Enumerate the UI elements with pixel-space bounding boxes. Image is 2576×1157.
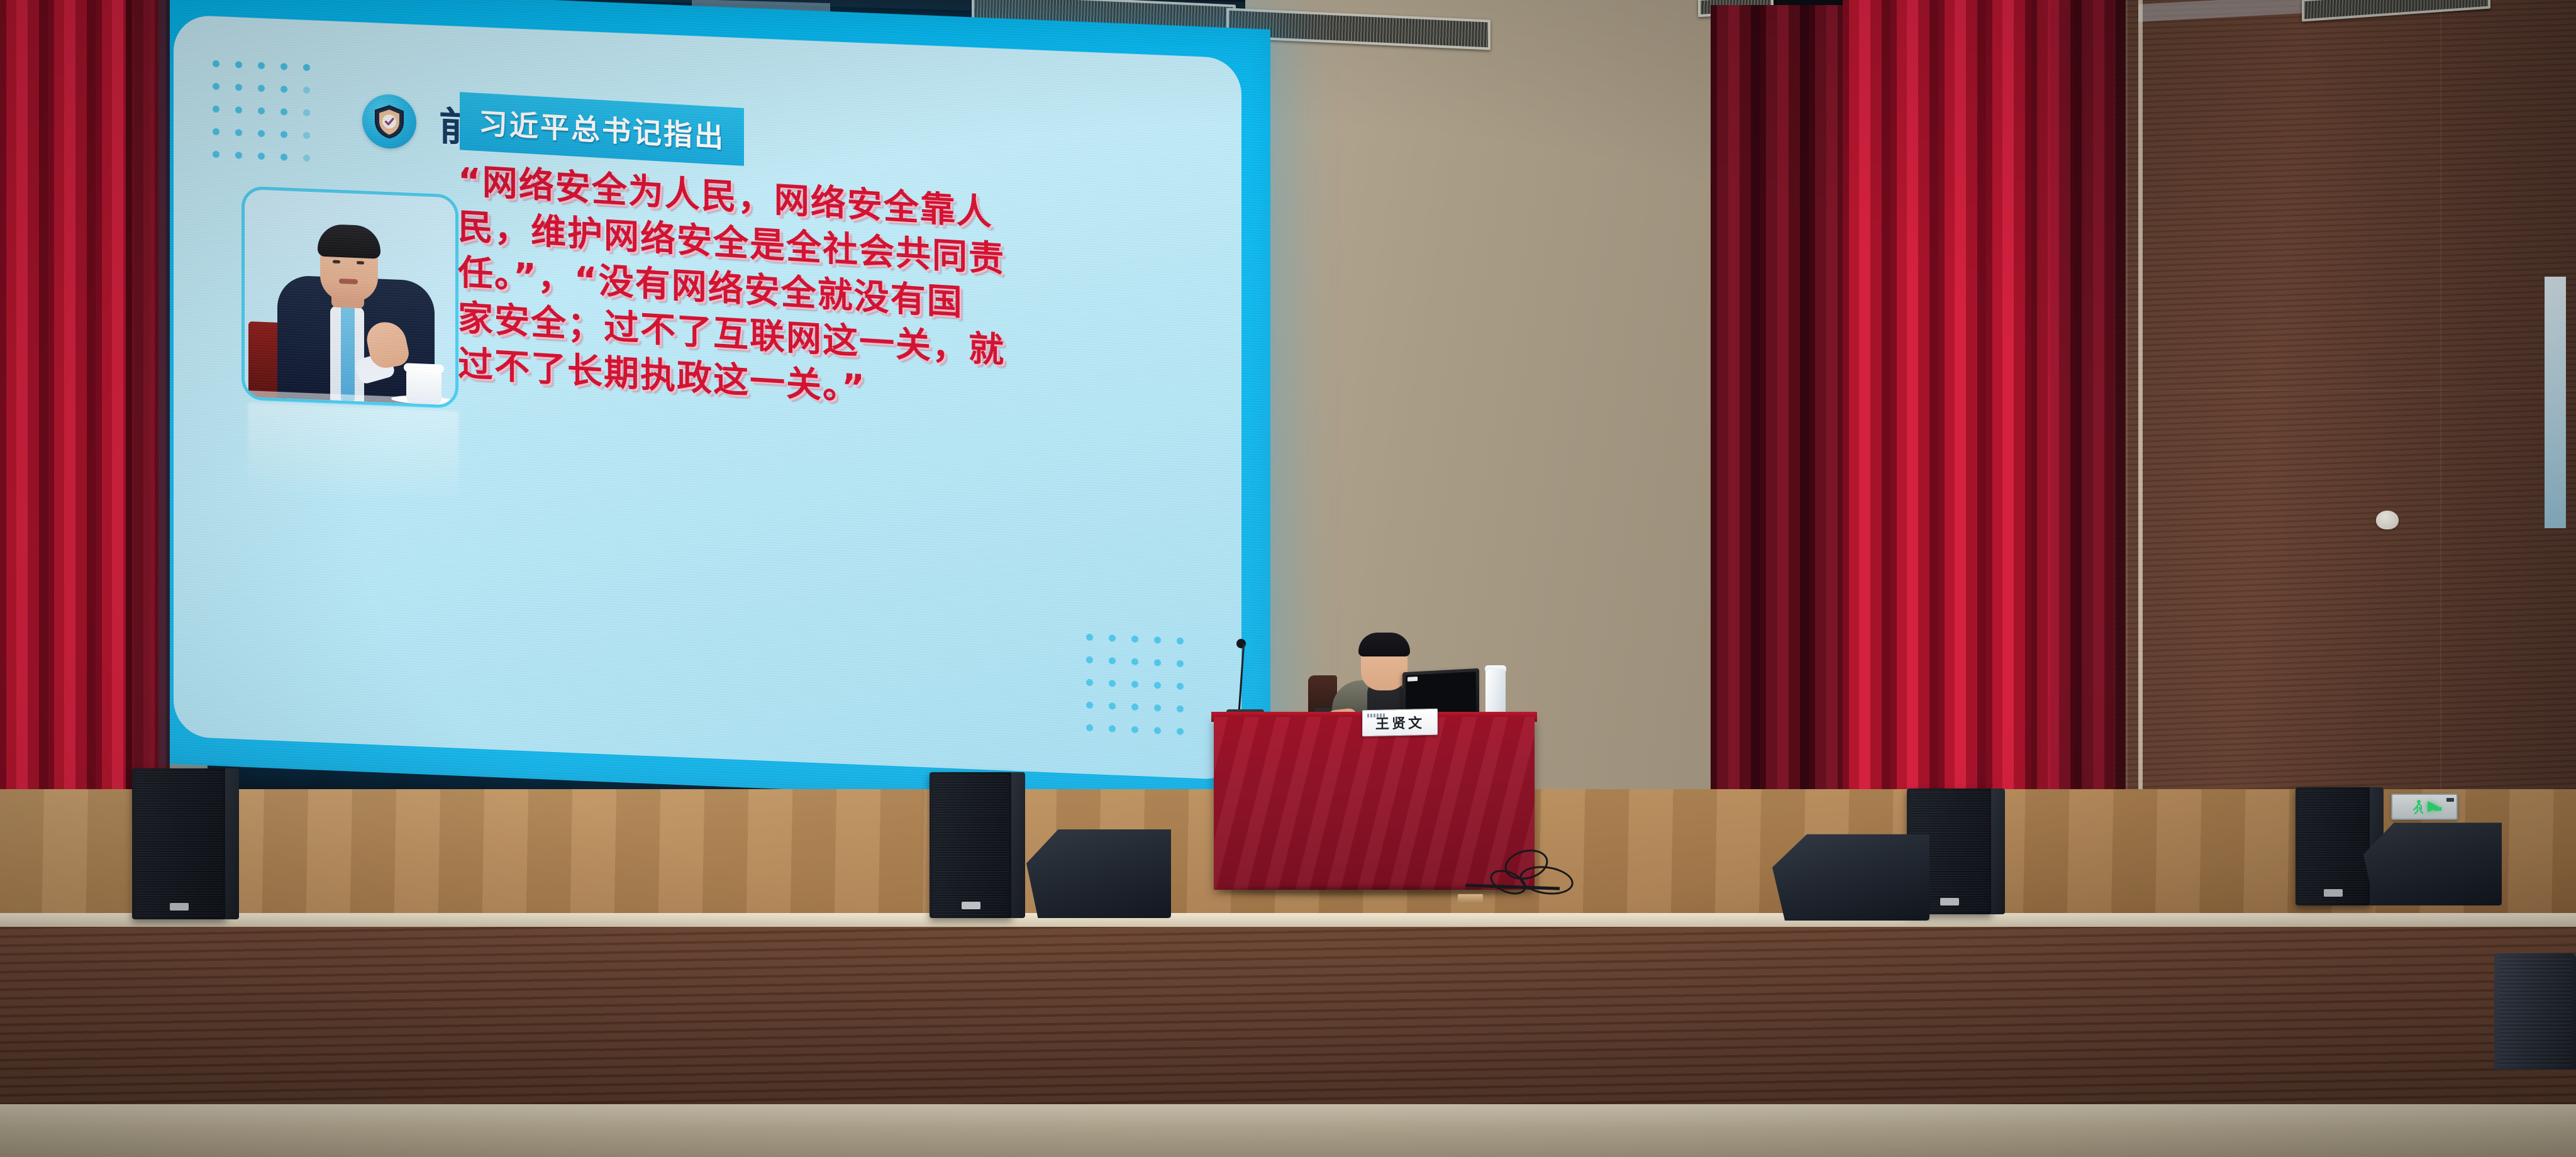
quote-banner: 习近平总书记指出 <box>460 92 744 166</box>
portrait-reflection <box>248 402 458 506</box>
pa-speaker-right <box>2296 787 2371 905</box>
wood-block-wedge <box>1458 894 1483 903</box>
laptop-badge <box>1407 677 1418 682</box>
wall-seam-horizontal <box>2138 390 2576 391</box>
stage-curtain-left-dark-edge <box>126 0 170 817</box>
quote-body: “网络安全为人民，网络安全靠人 民，维护网络安全是全社会共同责 任。”，“没有网… <box>458 158 961 418</box>
arrow-right-icon <box>2428 801 2439 812</box>
apron-base-trim <box>0 1104 2576 1157</box>
dot-grid-icon-bottom-right <box>1086 634 1184 735</box>
stage-curtain-right-main <box>1843 0 2050 849</box>
presenter-nameplate: 王贤文 <box>1362 709 1438 737</box>
desk-shadow <box>1219 887 1529 895</box>
stage-curtain-right-back <box>1711 5 1862 841</box>
xi-jinping-portrait-frame <box>241 186 458 409</box>
floor-monitor-center <box>1026 824 1171 918</box>
emergency-exit-sign <box>2391 794 2458 820</box>
audience-seat-back <box>2494 953 2576 1070</box>
arrow-right-tail <box>2434 807 2441 811</box>
pa-speaker-center-left <box>930 772 1013 918</box>
ceiling-dome-speaker-icon <box>2376 511 2399 529</box>
emergency-exit-icon <box>2411 799 2425 814</box>
floor-monitor-far-right <box>2363 817 2502 905</box>
floor-monitor-right <box>1772 829 1929 921</box>
exit-sign-indicator <box>2446 798 2454 802</box>
pa-speaker-left <box>132 768 226 919</box>
shield-check-icon <box>362 93 416 150</box>
desk-red-cloth <box>1214 717 1535 890</box>
quote-banner-text: 习近平总书记指出 <box>479 101 725 156</box>
led-screen: 前言 <box>145 0 1270 809</box>
stage-apron-wood <box>0 927 2576 1115</box>
microphone-stand <box>1238 644 1245 719</box>
portrait-image <box>245 189 455 406</box>
presenter-desk-group: 王贤文 <box>1214 635 1535 905</box>
wall-light-strip <box>2545 277 2566 528</box>
auditorium-scene: 前言 <box>0 0 2576 1157</box>
stage-curtain-far-right <box>2075 0 2126 855</box>
slide-card: 前言 <box>174 14 1241 780</box>
dot-grid-icon-top-left <box>213 60 310 162</box>
nameplate-logo-icon <box>1367 713 1386 717</box>
